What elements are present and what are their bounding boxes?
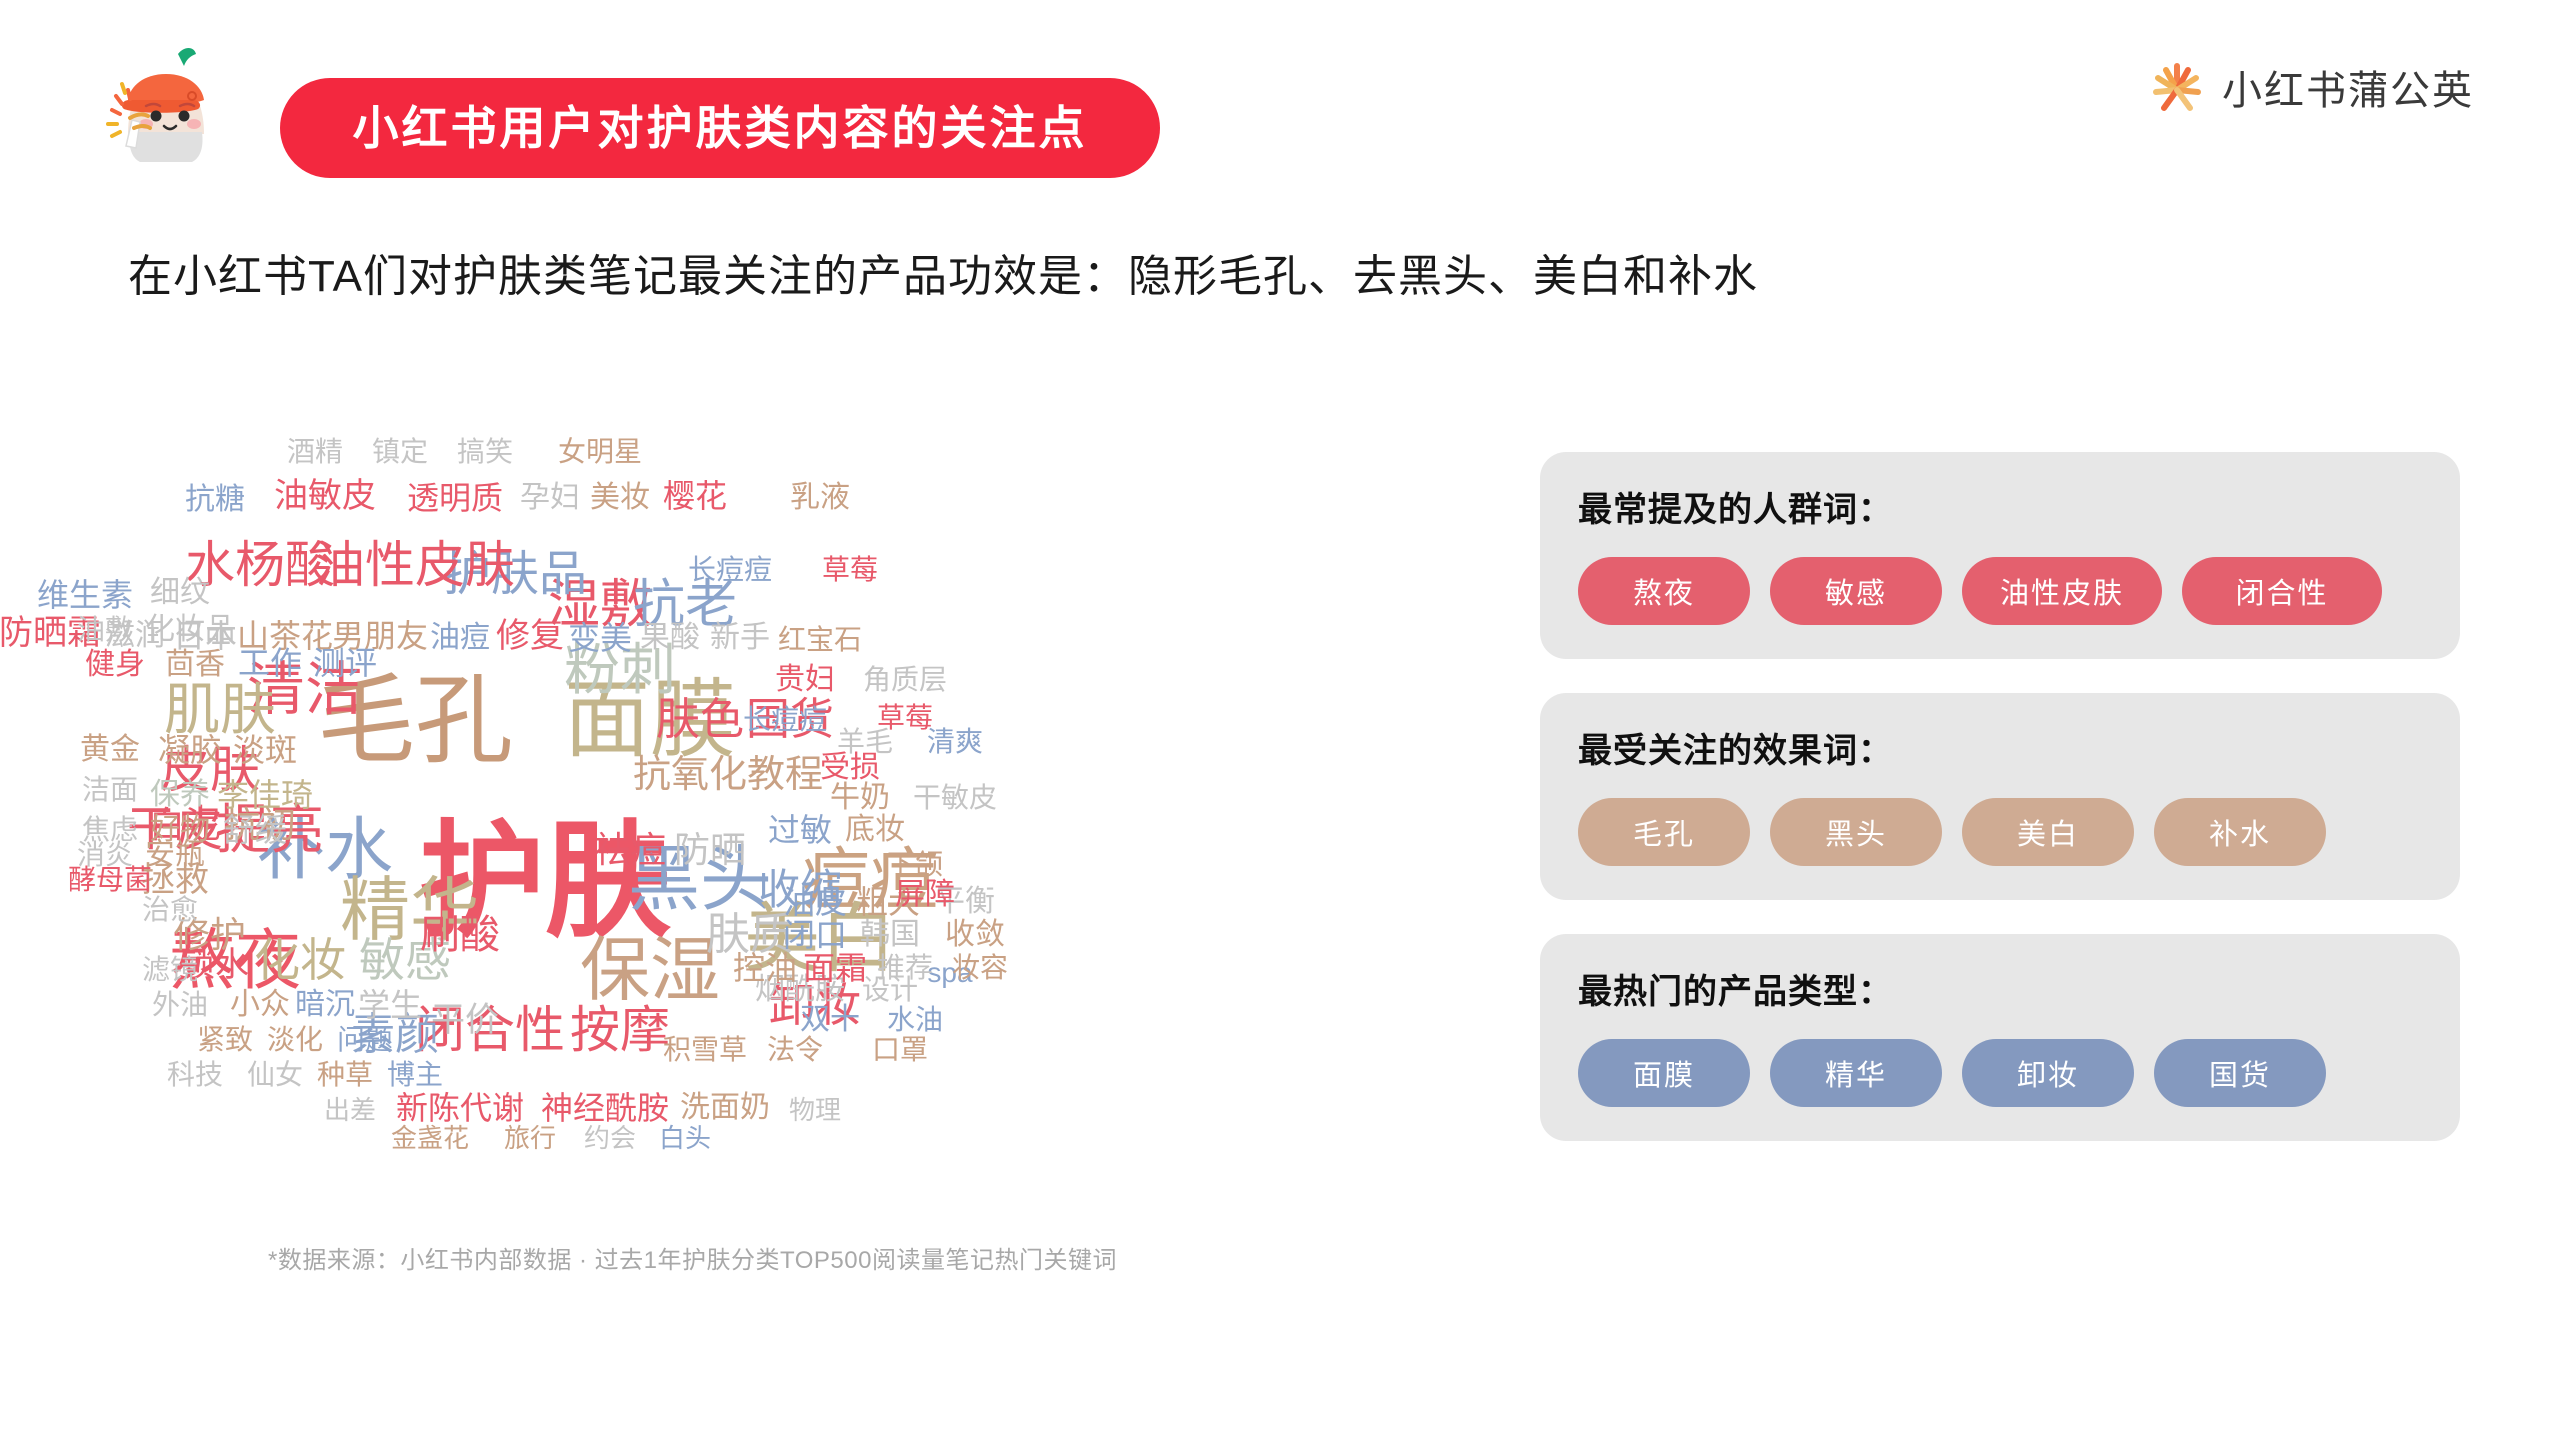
summary-card: 最热门的产品类型：面膜精华卸妆国货: [1540, 934, 2460, 1141]
word-cloud-term: 收敛: [945, 920, 1005, 950]
keyword-pill[interactable]: 补水: [2154, 798, 2326, 866]
word-cloud-term: 出差: [324, 1097, 376, 1123]
mascot-character-icon: [100, 38, 232, 162]
word-cloud-term: 科技: [167, 1061, 223, 1089]
word-cloud-term: 治愈: [142, 896, 198, 924]
word-cloud-term: 控油: [733, 952, 797, 984]
word-cloud-term: 紧致: [197, 1026, 253, 1054]
summary-card: 最受关注的效果词：毛孔黑头美白补水: [1540, 693, 2460, 900]
word-cloud-term: 过敏: [768, 814, 832, 846]
word-cloud-term: 镇定: [372, 438, 428, 466]
word-cloud-term: 学生: [358, 989, 422, 1021]
word-cloud-term: 油敷: [77, 616, 133, 644]
word-cloud-term: 白头: [659, 1125, 711, 1151]
word-cloud-term: 红宝石: [778, 626, 862, 654]
word-cloud-term: 果酸: [640, 623, 700, 653]
word-cloud-term: 透明质: [407, 482, 503, 514]
word-cloud-term: 油痘: [430, 623, 490, 653]
word-cloud-term: 洗面奶: [680, 1093, 770, 1123]
word-cloud-term: 神经酰胺: [541, 1092, 669, 1124]
word-cloud-term: 肤色: [656, 698, 744, 742]
word-cloud-term: 干敏皮: [913, 784, 997, 812]
word-cloud-term: 韩国: [860, 920, 920, 950]
word-cloud-term: 化妆: [254, 937, 346, 983]
word-cloud-term: 变美: [568, 622, 632, 654]
word-cloud-term: 法令: [767, 1036, 823, 1064]
summary-panel: 最常提及的人群词：熬夜敏感油性皮肤闭合性最受关注的效果词：毛孔黑头美白补水最热门…: [1540, 452, 2460, 1175]
word-cloud-term: 茴香: [165, 650, 225, 680]
summary-pill-row: 熬夜敏感油性皮肤闭合性: [1578, 557, 2422, 625]
word-cloud-term: 底妆: [845, 815, 905, 845]
word-cloud-term: 旅行: [504, 1125, 556, 1151]
word-cloud-term: 工作: [238, 647, 302, 679]
word-cloud-term: 平价: [431, 1003, 499, 1037]
summary-card-title: 最热门的产品类型：: [1578, 964, 2422, 1013]
keyword-word-cloud: 护肤毛孔面膜黑头痘痘补水美白保湿精华熬夜清洁肌肤皮肤提亮干皮粉刺湿敷抗老护肤品油…: [60, 390, 1520, 1170]
page-header: 小红书用户对护肤类内容的关注点 小红书蒲公英: [0, 0, 2560, 210]
keyword-pill[interactable]: 闭合性: [2182, 557, 2382, 625]
word-cloud-term: 草莓: [877, 704, 933, 732]
word-cloud-term: 洁面: [82, 776, 138, 804]
brand-name: 小红书蒲公英: [2222, 58, 2474, 116]
word-cloud-term: 测评: [313, 647, 377, 679]
word-cloud-term: 物理: [789, 1097, 841, 1123]
keyword-pill[interactable]: 面膜: [1578, 1039, 1750, 1107]
word-cloud-term: 牛奶: [830, 783, 890, 813]
word-cloud-term: 凝胶: [158, 734, 222, 766]
word-cloud-term: 刷酸: [420, 915, 500, 955]
word-cloud-term: 黄金: [80, 735, 140, 765]
word-cloud-term: 好物: [150, 815, 210, 845]
word-cloud-term: 推荐: [877, 954, 933, 982]
word-cloud-term: 樱花: [663, 480, 727, 512]
word-cloud-term: 修复: [496, 619, 564, 653]
word-cloud-term: 肌肤: [164, 682, 276, 738]
word-cloud-term: 抗氧化: [633, 756, 747, 794]
brand-logo: 小红书蒲公英: [2146, 56, 2474, 118]
word-cloud-term: 女明星: [558, 438, 642, 466]
word-cloud-term: 角质层: [863, 666, 947, 694]
word-cloud-term: 健身: [85, 650, 145, 680]
word-cloud-term: 酒精: [287, 438, 343, 466]
word-cloud-term: 油敏皮: [274, 479, 376, 513]
word-cloud-term: 小众: [230, 990, 290, 1020]
keyword-pill[interactable]: 油性皮肤: [1962, 557, 2162, 625]
word-cloud-term: 暗沉: [295, 990, 355, 1020]
word-cloud-term: 闭口: [783, 919, 847, 951]
keyword-pill[interactable]: 卸妆: [1962, 1039, 2134, 1107]
word-cloud-term: 保湿: [580, 935, 720, 1005]
word-cloud-term: 美妆: [590, 483, 650, 513]
keyword-pill[interactable]: 国货: [2154, 1039, 2326, 1107]
keyword-pill[interactable]: 敏感: [1770, 557, 1942, 625]
summary-pill-row: 毛孔黑头美白补水: [1578, 798, 2422, 866]
word-cloud-term: 抗糖: [185, 485, 245, 515]
word-cloud-term: 搞笑: [457, 438, 513, 466]
word-cloud-term: 淡化: [267, 1026, 323, 1054]
word-cloud-term: 防晒: [674, 832, 746, 868]
word-cloud-term: 博主: [387, 1061, 443, 1089]
page-subtitle: 在小红书TA们对护肤类笔记最关注的产品功效是：隐形毛孔、去黑头、美白和补水: [128, 240, 1758, 304]
data-source-footnote: *数据来源：小红书内部数据 · 过去1年护肤分类TOP500阅读量笔记热门关键词: [268, 1240, 1117, 1275]
summary-pill-row: 面膜精华卸妆国货: [1578, 1039, 2422, 1107]
word-cloud-term: 长痘痘: [743, 706, 827, 734]
word-cloud-term: 化妆品: [145, 615, 235, 645]
keyword-pill[interactable]: 黑头: [1770, 798, 1942, 866]
page-title: 小红书用户对护肤类内容的关注点: [353, 105, 1088, 151]
dandelion-burst-icon: [2146, 56, 2208, 118]
word-cloud-term: 问题: [337, 1026, 393, 1054]
word-cloud-term: 下颌: [887, 851, 943, 879]
summary-card-title: 最常提及的人群词：: [1578, 482, 2422, 531]
page-title-banner: 小红书用户对护肤类内容的关注点: [280, 78, 1160, 178]
word-cloud-term: 舒缓: [223, 814, 287, 846]
word-cloud-term: 淡斑: [233, 734, 297, 766]
word-cloud-term: 乳液: [790, 483, 850, 513]
word-cloud-term: 水油: [887, 1006, 943, 1034]
word-cloud-term: 积雪草: [663, 1036, 747, 1064]
word-cloud-term: 细纹: [150, 578, 210, 608]
summary-card: 最常提及的人群词：熬夜敏感油性皮肤闭合性: [1540, 452, 2460, 659]
word-cloud-term: 口罩: [872, 1036, 928, 1064]
word-cloud-term: 外油: [152, 991, 208, 1019]
word-cloud-term: 长痘痘: [688, 556, 772, 584]
word-cloud-term: 屏障: [895, 880, 955, 910]
word-cloud-term: 孕妇: [520, 483, 580, 513]
word-cloud-term: 祛痘: [594, 832, 666, 868]
word-cloud-term: 双十: [800, 1005, 860, 1035]
keyword-pill[interactable]: 精华: [1770, 1039, 1942, 1107]
word-cloud-term: 按摩: [570, 1005, 670, 1055]
word-cloud-term: 新手: [710, 623, 770, 653]
word-cloud-term: 李佳琦: [217, 779, 313, 811]
word-cloud-term: 仙女: [247, 1061, 303, 1089]
word-cloud-term: 受损: [820, 753, 880, 783]
word-cloud-term: 贵妇: [775, 665, 835, 695]
keyword-pill[interactable]: 熬夜: [1578, 557, 1750, 625]
summary-card-title: 最受关注的效果词：: [1578, 723, 2422, 772]
word-cloud-term: 约会: [584, 1125, 636, 1151]
word-cloud-term: 新陈代谢: [396, 1092, 524, 1124]
word-cloud-term: 教程: [747, 756, 823, 794]
word-cloud-term: 面霜: [803, 952, 867, 984]
word-cloud-term: 清爽: [927, 728, 983, 756]
word-cloud-term: 油性皮肤: [315, 540, 515, 590]
word-cloud-term: 酵母菌: [68, 866, 152, 894]
word-cloud-term: 维生素: [37, 579, 133, 611]
word-cloud-term: 滤镜: [142, 956, 198, 984]
keyword-pill[interactable]: 美白: [1962, 798, 2134, 866]
word-cloud-term: 妆容: [952, 954, 1008, 982]
word-cloud-term: 种草: [317, 1061, 373, 1089]
word-cloud-term: 金盏花: [391, 1125, 469, 1151]
keyword-pill[interactable]: 毛孔: [1578, 798, 1750, 866]
word-cloud-term: 保养: [150, 780, 210, 810]
word-cloud-term: 油皮: [783, 886, 847, 918]
word-cloud-term: 草莓: [822, 556, 878, 584]
